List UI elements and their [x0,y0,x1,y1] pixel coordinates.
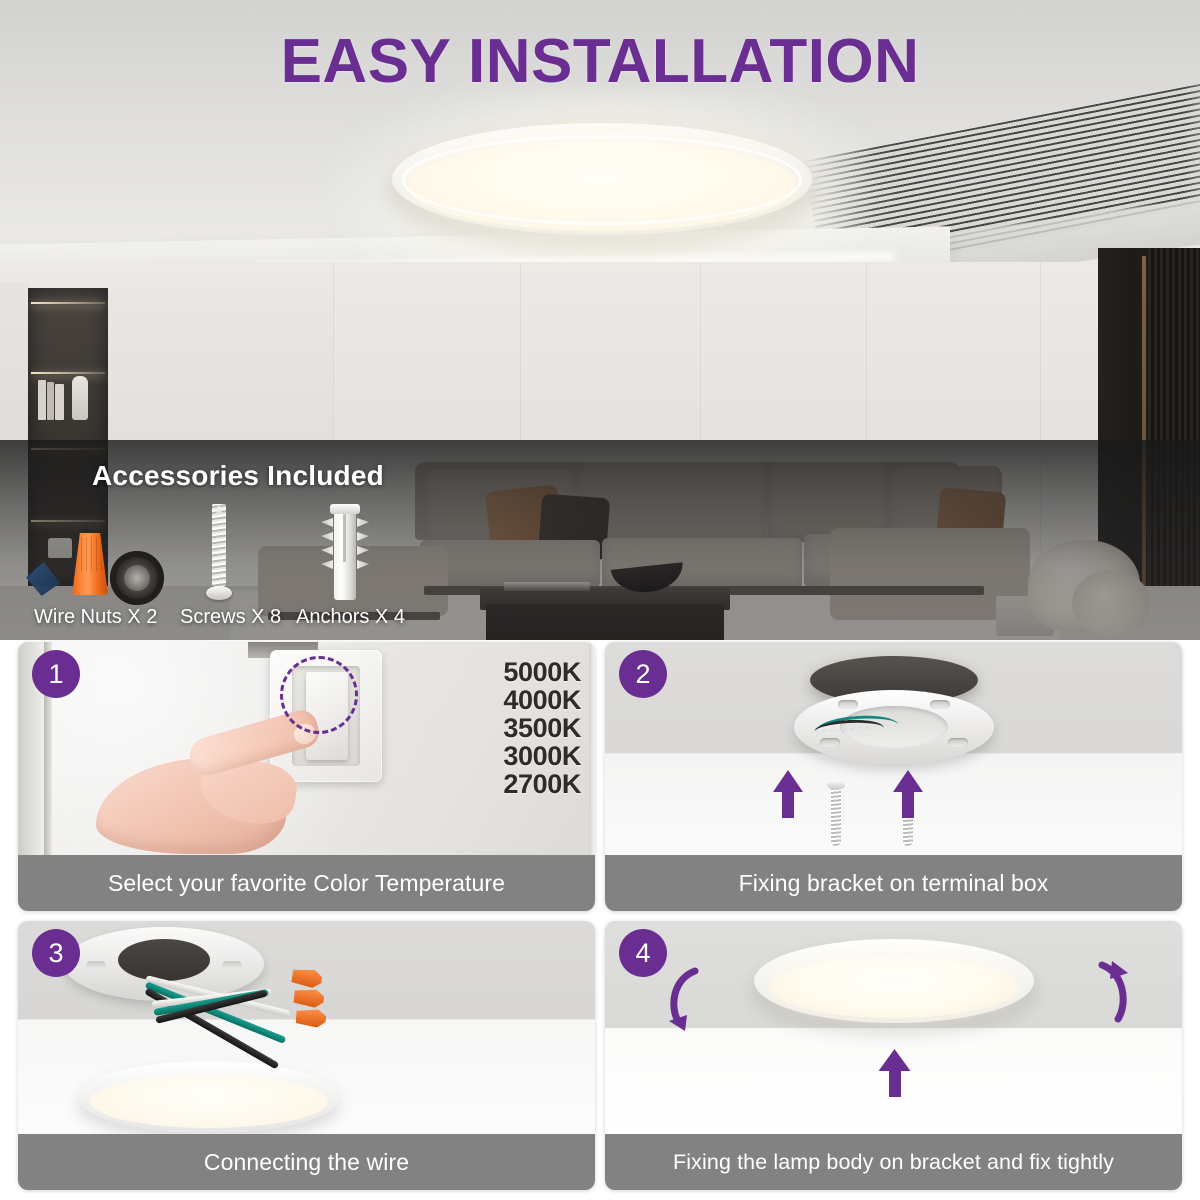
step-caption-2: Fixing bracket on terminal box [605,855,1182,911]
step-caption-3: Connecting the wire [18,1134,595,1190]
accessories-title: Accessories Included [92,460,384,492]
wire-nut-icon-3 [295,1008,326,1028]
arrow-up-icon-right [893,770,923,818]
step-panel-3: 3 Connecting the wire [18,921,595,1190]
mounting-bracket-icon [794,690,994,764]
hero-ceiling-lamp [392,123,812,235]
step-caption-4: Fixing the lamp body on bracket and fix … [605,1134,1182,1190]
page-title: EASY INSTALLATION [281,27,920,96]
infographic-page: Accessories Included Wire Nuts X 2 Screw… [0,0,1200,1200]
step-badge-3: 3 [32,929,80,977]
step-4-illustration: 4 [605,921,1182,1134]
accessory-label-screws: Screws X 8 [180,606,281,629]
highlight-circle-icon [280,656,358,734]
color-temp-3000k: 3000K [503,742,581,770]
step-badge-2: 2 [619,650,667,698]
scene-object-wheel [110,551,164,605]
step-panel-2: 2 Fixing bracket on terminal box [605,642,1182,911]
wire-nut-icon-2 [293,987,325,1008]
arrow-up-icon-center [879,1049,911,1101]
screw-icon-left [827,776,845,852]
accessory-label-wire-nuts: Wire Nuts X 2 [34,606,157,629]
color-temp-3500k: 3500K [503,714,581,742]
step-1-illustration: 5000K 4000K 3500K 3000K 2700K 1 [18,642,595,855]
color-temp-2700k: 2700K [503,770,581,798]
step-2-illustration: 2 [605,642,1182,855]
arrow-up-icon-left [773,770,803,818]
wire-nut-icon [72,533,108,595]
screw-icon [206,504,232,600]
step-badge-1: 1 [32,650,80,698]
rotate-arrow-icon-right [1082,957,1136,1031]
color-temp-5000k: 5000K [503,658,581,686]
wire-nut-icon-1 [291,967,323,989]
step-panel-4: 4 Fixing the lamp body on bracket and fi… [605,921,1182,1190]
lamp-body-icon-final [754,939,1034,1023]
color-temperature-list: 5000K 4000K 3500K 3000K 2700K [503,658,581,798]
color-temp-4000k: 4000K [503,686,581,714]
installation-steps-grid: 5000K 4000K 3500K 3000K 2700K 1 Select y… [18,642,1182,1190]
step-3-illustration: 3 [18,921,595,1134]
rotate-arrow-icon-left [661,963,715,1037]
step-caption-1: Select your favorite Color Temperature [18,855,595,911]
step-panel-1: 5000K 4000K 3500K 3000K 2700K 1 Select y… [18,642,595,911]
accessory-label-anchors: Anchors X 4 [296,606,405,629]
wire-bundle [146,957,356,1077]
step-badge-4: 4 [619,929,667,977]
anchor-icon [328,504,362,600]
